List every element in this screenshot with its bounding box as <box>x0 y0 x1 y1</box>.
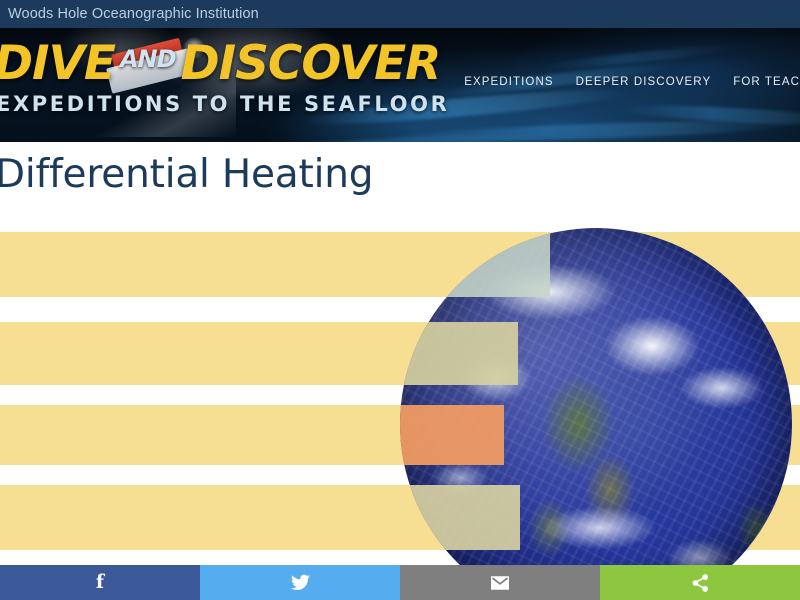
share-nodes-icon <box>692 574 709 592</box>
logo-tagline: EXPEDITIONS TO THE SEAFLOOR <box>0 89 339 119</box>
page-title: Differential Heating <box>0 152 373 198</box>
nav-item-deeper-discovery[interactable]: DEEPER DISCOVERY <box>576 76 712 88</box>
site-logo[interactable]: DIVEANDDISCOVER EXPEDITIONS TO THE SEAFL… <box>0 34 339 119</box>
logo-wordmark: DIVEANDDISCOVER <box>0 34 339 89</box>
logo-word-discover: DISCOVER <box>181 36 441 91</box>
twitter-icon <box>291 574 310 591</box>
facebook-icon: f <box>96 573 104 592</box>
share-button-email[interactable] <box>400 565 600 600</box>
logo-word-dive: DIVE <box>0 36 115 91</box>
envelope-icon <box>491 576 509 590</box>
social-share-bar: f <box>0 565 800 600</box>
institution-name: Woods Hole Oceanographic Institution <box>0 6 259 22</box>
nav-item-for-teachers[interactable]: FOR TEAC <box>733 76 800 88</box>
share-button-facebook[interactable]: f <box>0 565 200 600</box>
share-button-twitter[interactable] <box>200 565 400 600</box>
main-navigation: EXPEDITIONS DEEPER DISCOVERY FOR TEAC <box>464 76 800 88</box>
utility-bar: Woods Hole Oceanographic Institution <box>0 0 800 28</box>
logo-word-and: AND <box>117 34 179 84</box>
nav-item-expeditions[interactable]: EXPEDITIONS <box>464 76 553 88</box>
share-button-share[interactable] <box>600 565 800 600</box>
earth-globe-image <box>400 228 792 600</box>
page-root: Woods Hole Oceanographic Institution DIV… <box>0 0 800 600</box>
site-masthead: DIVEANDDISCOVER EXPEDITIONS TO THE SEAFL… <box>0 28 800 142</box>
